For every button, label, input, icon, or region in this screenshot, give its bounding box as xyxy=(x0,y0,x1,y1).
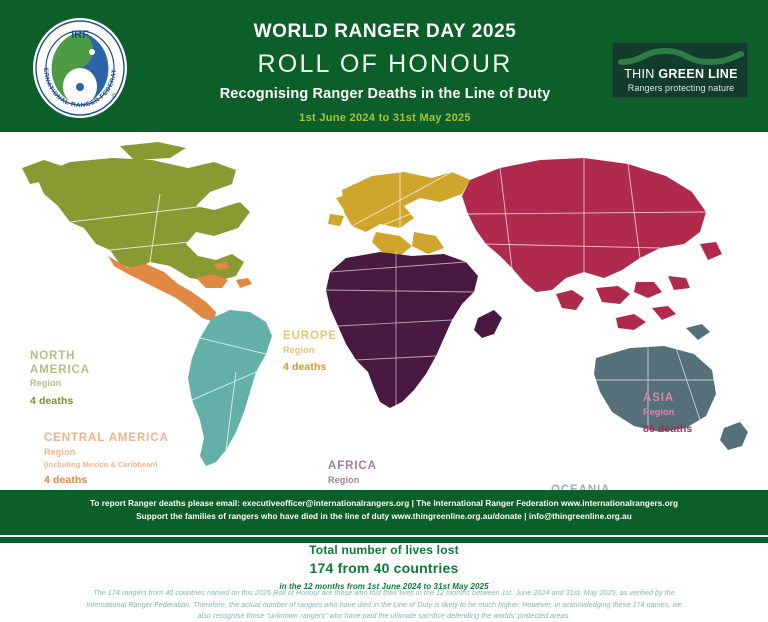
region-label-north-america: NORTH AMERICA Region 4 deaths xyxy=(30,350,90,408)
region-deaths-asia: 86 deaths xyxy=(643,422,692,437)
region-sublabel-africa: Region xyxy=(328,474,377,488)
page-tagline: Recognising Ranger Deaths in the Line of… xyxy=(160,83,610,107)
region-label-europe: EUROPE Region 4 deaths xyxy=(283,330,337,375)
region-label-central-america: CENTRAL AMERICA Region (including Mexico… xyxy=(44,432,169,488)
region-deaths-north-america: 4 deaths xyxy=(30,394,90,409)
region-sublabel-europe: Region xyxy=(283,344,337,358)
header-title-block: WORLD RANGER DAY 2025 ROLL OF HONOUR Rec… xyxy=(160,18,610,130)
total-caption: Total number of lives lost xyxy=(0,542,768,559)
map-region-africa[interactable] xyxy=(326,252,502,408)
total-figure: 174 from 40 countries xyxy=(0,559,768,579)
disclaimer-text: The 174 rangers from 40 countries named … xyxy=(84,587,684,622)
infographic-page: IRF INTERNATIONAL RANGER FEDERATION © WO… xyxy=(0,0,768,543)
footer-divider xyxy=(0,535,768,537)
region-name-europe: EUROPE xyxy=(283,330,337,344)
region-name-line2: AMERICA xyxy=(30,364,90,376)
tgl-logo-name: THIN GREEN LINE xyxy=(613,67,748,81)
region-name-asia: ASIA xyxy=(643,392,692,406)
tgl-name-light: THIN xyxy=(624,67,658,81)
footer-contact-tgl[interactable]: Support the families of rangers who have… xyxy=(0,511,768,524)
tgl-logo-tagline: Rangers protecting nature xyxy=(613,83,748,93)
region-deaths-europe: 4 deaths xyxy=(283,360,337,375)
header-banner: IRF INTERNATIONAL RANGER FEDERATION © WO… xyxy=(0,0,768,132)
region-deaths-central-america: 4 deaths xyxy=(44,473,169,488)
map-region-asia[interactable] xyxy=(462,158,722,330)
region-name-north-america: NORTH AMERICA xyxy=(30,350,90,377)
map-panel: NORTH AMERICA Region 4 deaths CENTRAL AM… xyxy=(0,132,768,490)
page-title: WORLD RANGER DAY 2025 xyxy=(160,18,610,46)
region-sublabel-north-america: Region xyxy=(30,377,90,391)
page-subtitle: ROLL OF HONOUR xyxy=(160,46,610,84)
region-name-africa: AFRICA xyxy=(328,460,377,474)
thin-green-line-logo: THIN GREEN LINE Rangers protecting natur… xyxy=(612,42,748,98)
region-name-line1: NORTH xyxy=(30,350,75,362)
region-name-central-america: CENTRAL AMERICA xyxy=(44,432,169,446)
map-region-europe[interactable] xyxy=(328,172,470,256)
region-sublabel-central-america: Region xyxy=(44,446,169,460)
footer-contact-irf[interactable]: To report Ranger deaths please email: ex… xyxy=(0,490,768,511)
region-note-central-america: (including Mexico & Caribbean) xyxy=(44,459,169,470)
region-sublabel-asia: Region xyxy=(643,406,692,420)
svg-text:©: © xyxy=(112,93,117,100)
map-region-south-america[interactable] xyxy=(188,310,272,466)
svg-text:IRF: IRF xyxy=(71,29,89,41)
map-region-north-america[interactable] xyxy=(22,142,250,282)
wave-icon xyxy=(613,45,748,69)
irf-logo: IRF INTERNATIONAL RANGER FEDERATION © xyxy=(28,16,132,120)
region-label-asia: ASIA Region 86 deaths xyxy=(643,392,692,437)
tgl-name-bold: GREEN LINE xyxy=(658,67,737,81)
date-range: 1st June 2024 to 31st May 2025 xyxy=(160,107,610,130)
footer-bar: To report Ranger deaths please email: ex… xyxy=(0,490,768,543)
